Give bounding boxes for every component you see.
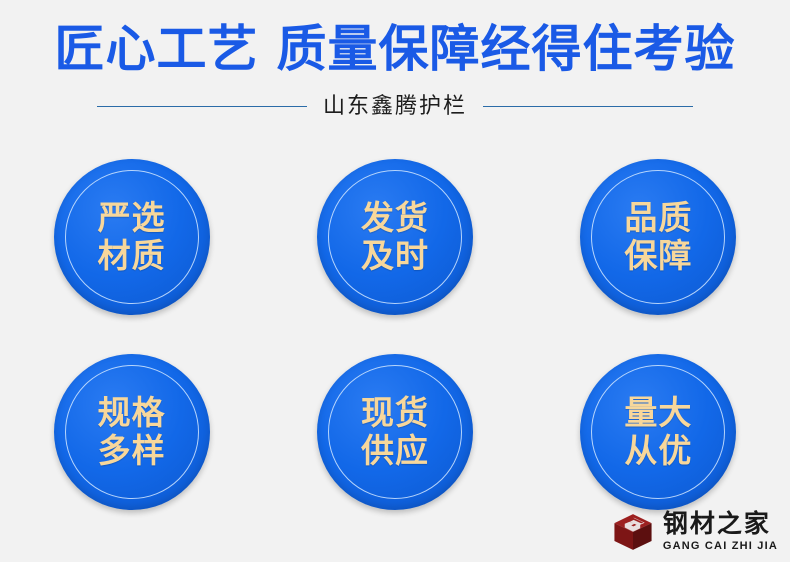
feature-badge-2[interactable]: 发货 及时 — [317, 159, 473, 315]
page-title: 匠心工艺质量保障经得住考验 — [0, 17, 790, 81]
feature-badge-label: 量大 从优 — [624, 394, 692, 470]
feature-badge-grid: 严选 材质 发货 及时 品质 保障 规格 多样 现货 供应 量大 从优 — [0, 148, 790, 520]
feature-badge-label: 规格 多样 — [98, 394, 166, 470]
rule-left — [97, 106, 307, 107]
site-logo[interactable]: 钢材之家 GANG CAI ZHI JIA — [611, 510, 778, 554]
feature-badge-1[interactable]: 严选 材质 — [54, 159, 210, 315]
feature-badge-label: 现货 供应 — [361, 394, 429, 470]
feature-badge-label: 发货 及时 — [361, 199, 429, 275]
feature-badge-6[interactable]: 量大 从优 — [580, 354, 736, 510]
banner-header: 匠心工艺质量保障经得住考验 山东鑫腾护栏 — [0, 0, 790, 140]
feature-badge-label: 严选 材质 — [98, 199, 166, 275]
rule-right — [483, 106, 693, 107]
feature-badge-label: 品质 保障 — [624, 199, 692, 275]
feature-badge-3[interactable]: 品质 保障 — [580, 159, 736, 315]
page-title-part2: 质量保障经得住考验 — [277, 21, 736, 77]
logo-text-block: 钢材之家 GANG CAI ZHI JIA — [663, 512, 778, 552]
logo-name-en: GANG CAI ZHI JIA — [663, 541, 778, 552]
page-title-part1: 匠心工艺 — [55, 21, 259, 77]
subtitle-row: 山东鑫腾护栏 — [0, 92, 790, 120]
promo-banner: 匠心工艺质量保障经得住考验 山东鑫腾护栏 严选 材质 发货 及时 品质 保障 规… — [0, 0, 790, 562]
feature-badge-4[interactable]: 规格 多样 — [54, 354, 210, 510]
logo-name-cn: 钢材之家 — [663, 512, 771, 537]
cube-logo-icon — [611, 510, 655, 554]
brand-subtitle: 山东鑫腾护栏 — [323, 92, 467, 120]
feature-badge-5[interactable]: 现货 供应 — [317, 354, 473, 510]
